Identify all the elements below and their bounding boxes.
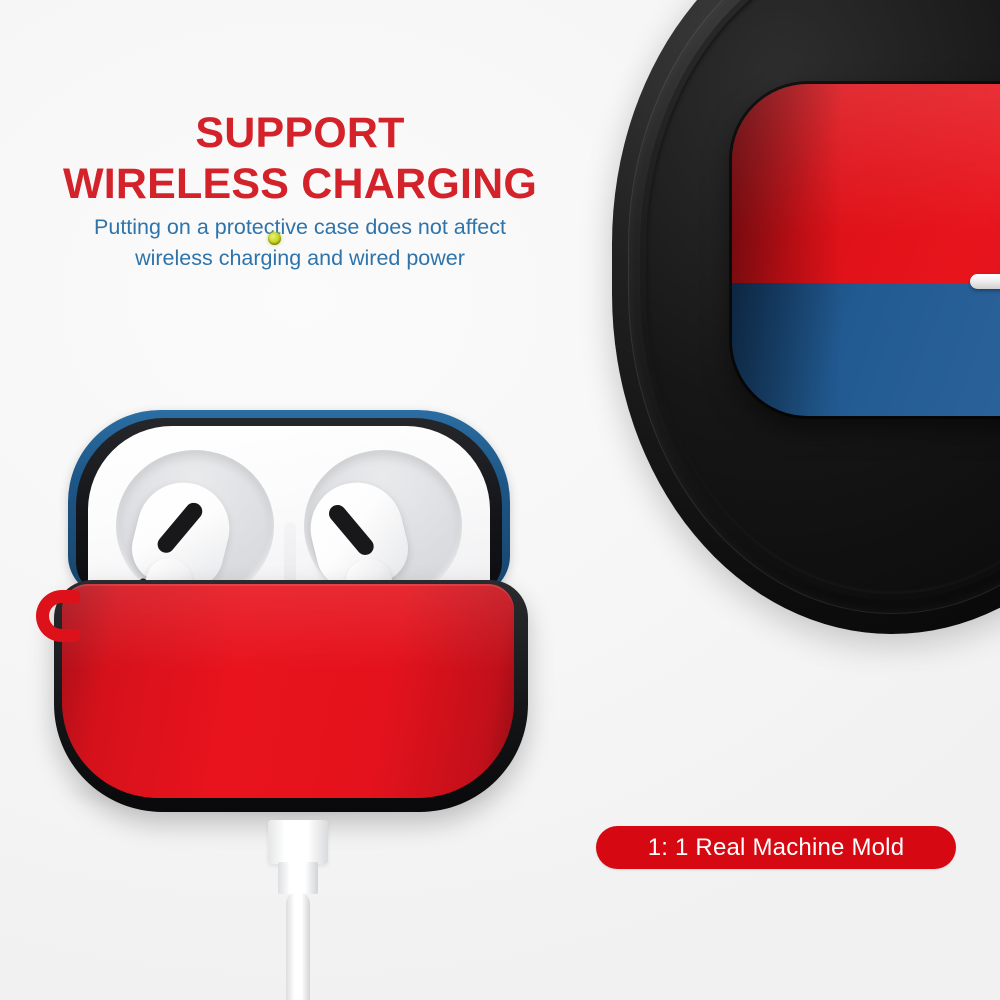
airpods-pro-case-open <box>40 408 540 828</box>
subcopy: Putting on a protective case does not af… <box>0 212 600 274</box>
headline-line-2: WIRELESS CHARGING <box>0 159 600 210</box>
closed-case-seam-line <box>970 274 1000 289</box>
closed-case-left-shadow <box>732 84 842 416</box>
carabiner-loop-icon <box>36 590 80 642</box>
real-machine-mold-badge: 1: 1 Real Machine Mold <box>596 826 956 869</box>
charging-cable-cord <box>286 892 310 1000</box>
headline: SUPPORT WIRELESS CHARGING <box>0 108 600 210</box>
lightning-connector-neck <box>278 862 318 894</box>
headline-line-1: SUPPORT <box>0 108 600 159</box>
wireless-charging-pad <box>612 0 1000 634</box>
subcopy-line-2: wireless charging and wired power <box>0 243 600 274</box>
open-case-status-led-icon <box>268 232 281 245</box>
red-body-highlight <box>62 584 514 670</box>
airpods-pro-case-closed <box>732 84 1000 416</box>
open-case-red-silicone-body <box>62 584 514 798</box>
lightning-connector-plug <box>268 820 328 864</box>
product-image-canvas: SUPPORT WIRELESS CHARGING Putting on a p… <box>0 0 1000 1000</box>
subcopy-line-1: Putting on a protective case does not af… <box>0 212 600 243</box>
